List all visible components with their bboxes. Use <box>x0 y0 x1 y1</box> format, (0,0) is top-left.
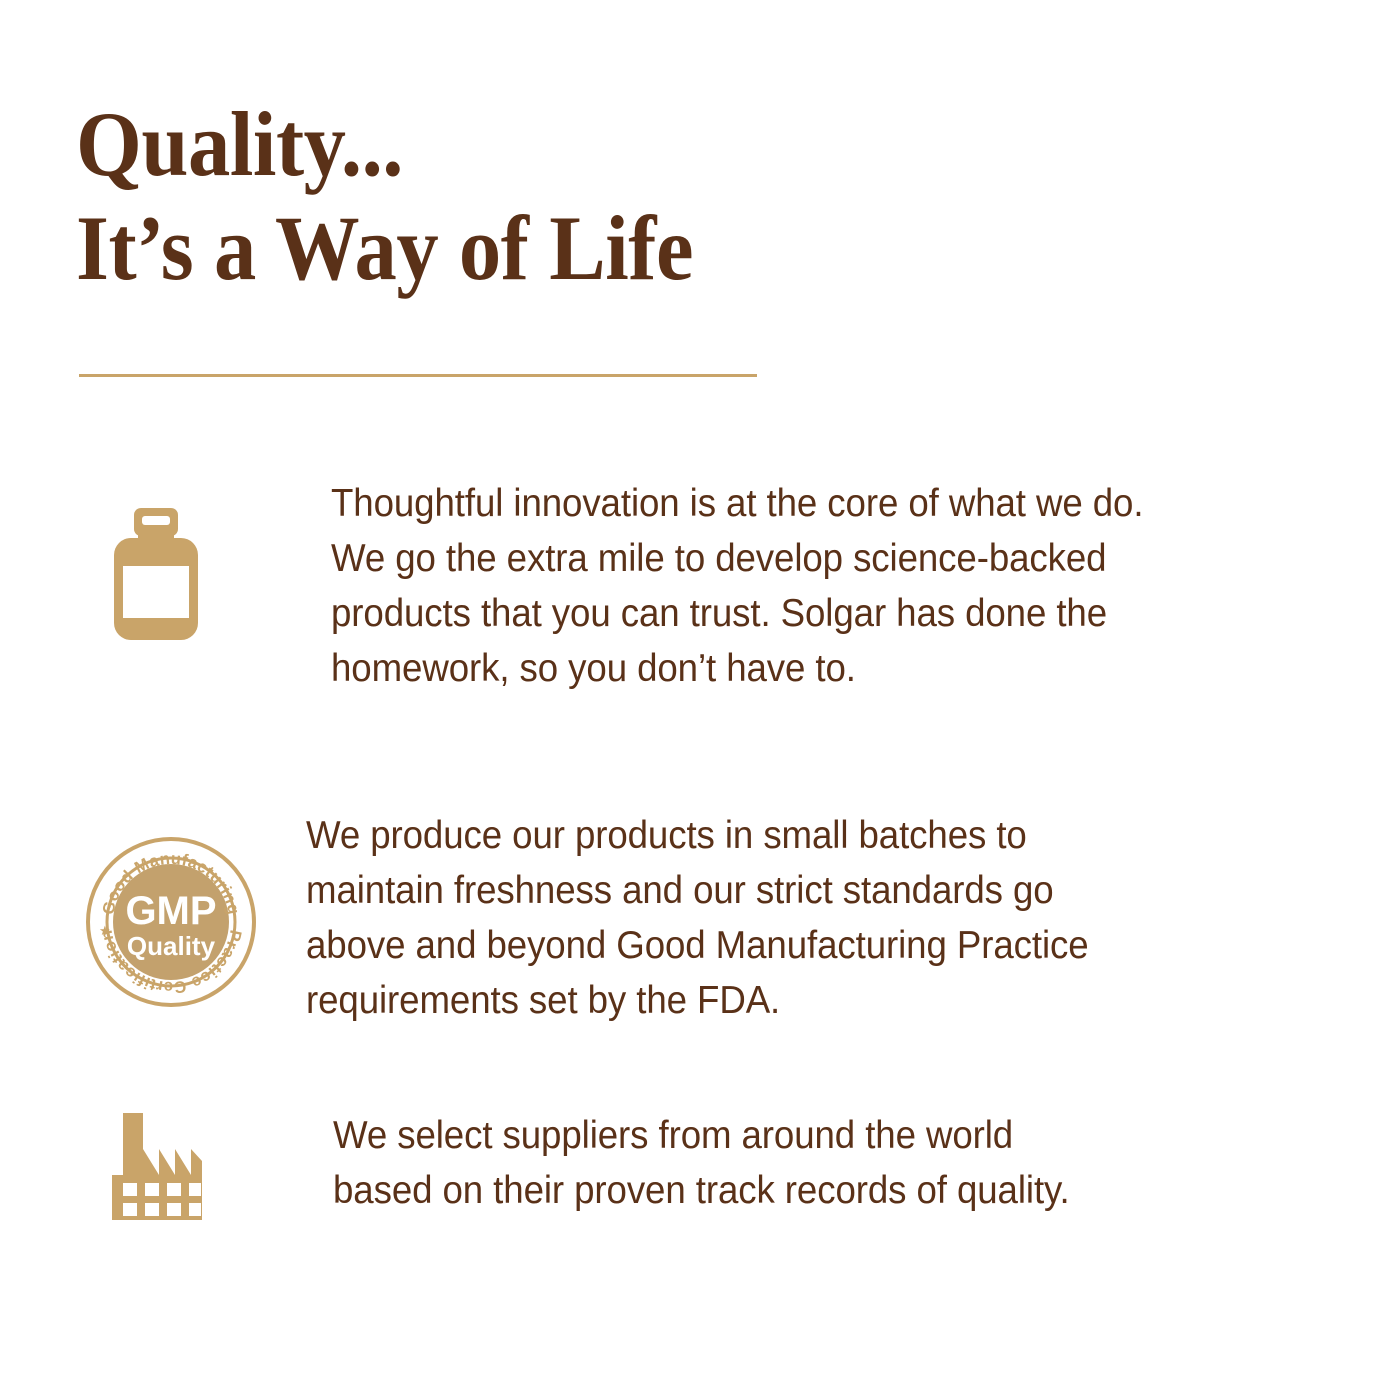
feature-row-suppliers: We select suppliers from around the worl… <box>76 1108 1323 1228</box>
title-divider <box>79 374 757 377</box>
gmp-quality-seal-icon: Good Manufacturing Practice Certificatio… <box>85 836 257 1013</box>
feature-row-innovation: Thoughtful innovation is at the core of … <box>76 476 1361 696</box>
feature-icon-cell: Good Manufacturing Practice Certificatio… <box>76 808 306 1013</box>
seal-center-gmp: GMP <box>125 889 216 933</box>
feature-row-gmp: Good Manufacturing Practice Certificatio… <box>76 808 1306 1028</box>
page-title: Quality... It’s a Way of Life <box>76 92 1076 300</box>
page-title-line-2: It’s a Way of Life <box>76 196 996 300</box>
feature-text-innovation: Thoughtful innovation is at the core of … <box>331 476 1299 696</box>
feature-icon-cell <box>76 476 331 645</box>
page-title-line-1: Quality... <box>76 92 996 196</box>
seal-star-icon: ★ <box>99 923 111 938</box>
feature-text-suppliers: We select suppliers from around the worl… <box>333 1108 1264 1218</box>
feature-icon-cell <box>76 1108 333 1228</box>
supplement-bottle-icon <box>110 508 202 645</box>
factory-icon <box>112 1113 202 1228</box>
feature-text-gmp: We produce our products in small batches… <box>306 808 1246 1028</box>
seal-center-quality: Quality <box>127 931 216 961</box>
